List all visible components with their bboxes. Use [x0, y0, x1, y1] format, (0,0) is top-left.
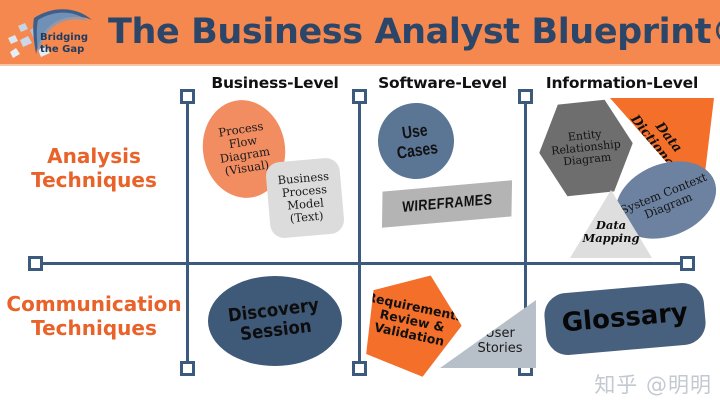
shape-label-entity-relationship-diagram: Entity Relationship Diagram	[549, 126, 622, 170]
row-label-analysis-techniques: Analysis Techniques	[2, 144, 186, 193]
column-header-information-level: Information-Level	[524, 74, 720, 92]
bridging-the-gap-logo: Bridging the Gap	[4, 4, 108, 62]
grid-handle-v1-top[interactable]	[180, 89, 195, 104]
logo-line2: the Gap	[40, 44, 84, 55]
page-title: The Business Analyst Blueprint®	[108, 6, 716, 58]
shape-use-cases[interactable]: Use Cases	[373, 98, 459, 184]
column-header-software-level: Software-Level	[360, 74, 525, 92]
shape-label-user-stories: User Stories	[477, 327, 522, 356]
grid-handle-h-right[interactable]	[680, 256, 695, 271]
shape-label-system-context-diagram: System Context Diagram	[619, 171, 714, 229]
watermark: 知乎 @明明	[594, 369, 712, 399]
grid-handle-v2-top[interactable]	[352, 89, 367, 104]
grid-handle-h-left[interactable]	[28, 256, 43, 271]
shape-glossary[interactable]: Glossary	[543, 281, 708, 357]
shape-label-discovery-session: Discovery Session	[227, 295, 323, 346]
grid-handle-v1-bottom[interactable]	[180, 361, 195, 376]
shape-wireframes[interactable]: WIREFRAMES	[382, 180, 512, 228]
grid-divider-vertical-2	[358, 96, 361, 368]
shape-label-business-process-model: Business Process Model (Text)	[277, 170, 333, 226]
grid-divider-vertical-1	[186, 96, 189, 368]
shape-label-process-flow-diagram: Process Flow Diagram (Visual)	[215, 120, 273, 179]
shape-label-requirements-review-validation: Requirements Review & Validation	[360, 290, 465, 352]
shape-label-use-cases: Use Cases	[393, 119, 439, 162]
shape-discovery-session[interactable]: Discovery Session	[208, 276, 342, 366]
row-label-communication-techniques: Communication Techniques	[2, 292, 186, 341]
grid-handle-v3-top[interactable]	[518, 89, 533, 104]
logo-graphic: Bridging the Gap	[4, 4, 108, 62]
grid-handle-v2-bottom[interactable]	[352, 361, 367, 376]
shape-label-glossary: Glossary	[561, 299, 689, 339]
shape-business-process-model[interactable]: Business Process Model (Text)	[265, 157, 345, 239]
grid-divider-horizontal	[34, 262, 686, 265]
blueprint-canvas: Bridging the Gap The Business Analyst Bl…	[0, 0, 720, 405]
header-banner: Bridging the Gap The Business Analyst Bl…	[0, 0, 720, 64]
logo-line1: Bridging	[40, 32, 88, 43]
column-header-business-level: Business-Level	[190, 74, 360, 92]
shape-label-wireframes: WIREFRAMES	[402, 192, 492, 217]
header-divider	[0, 64, 720, 66]
